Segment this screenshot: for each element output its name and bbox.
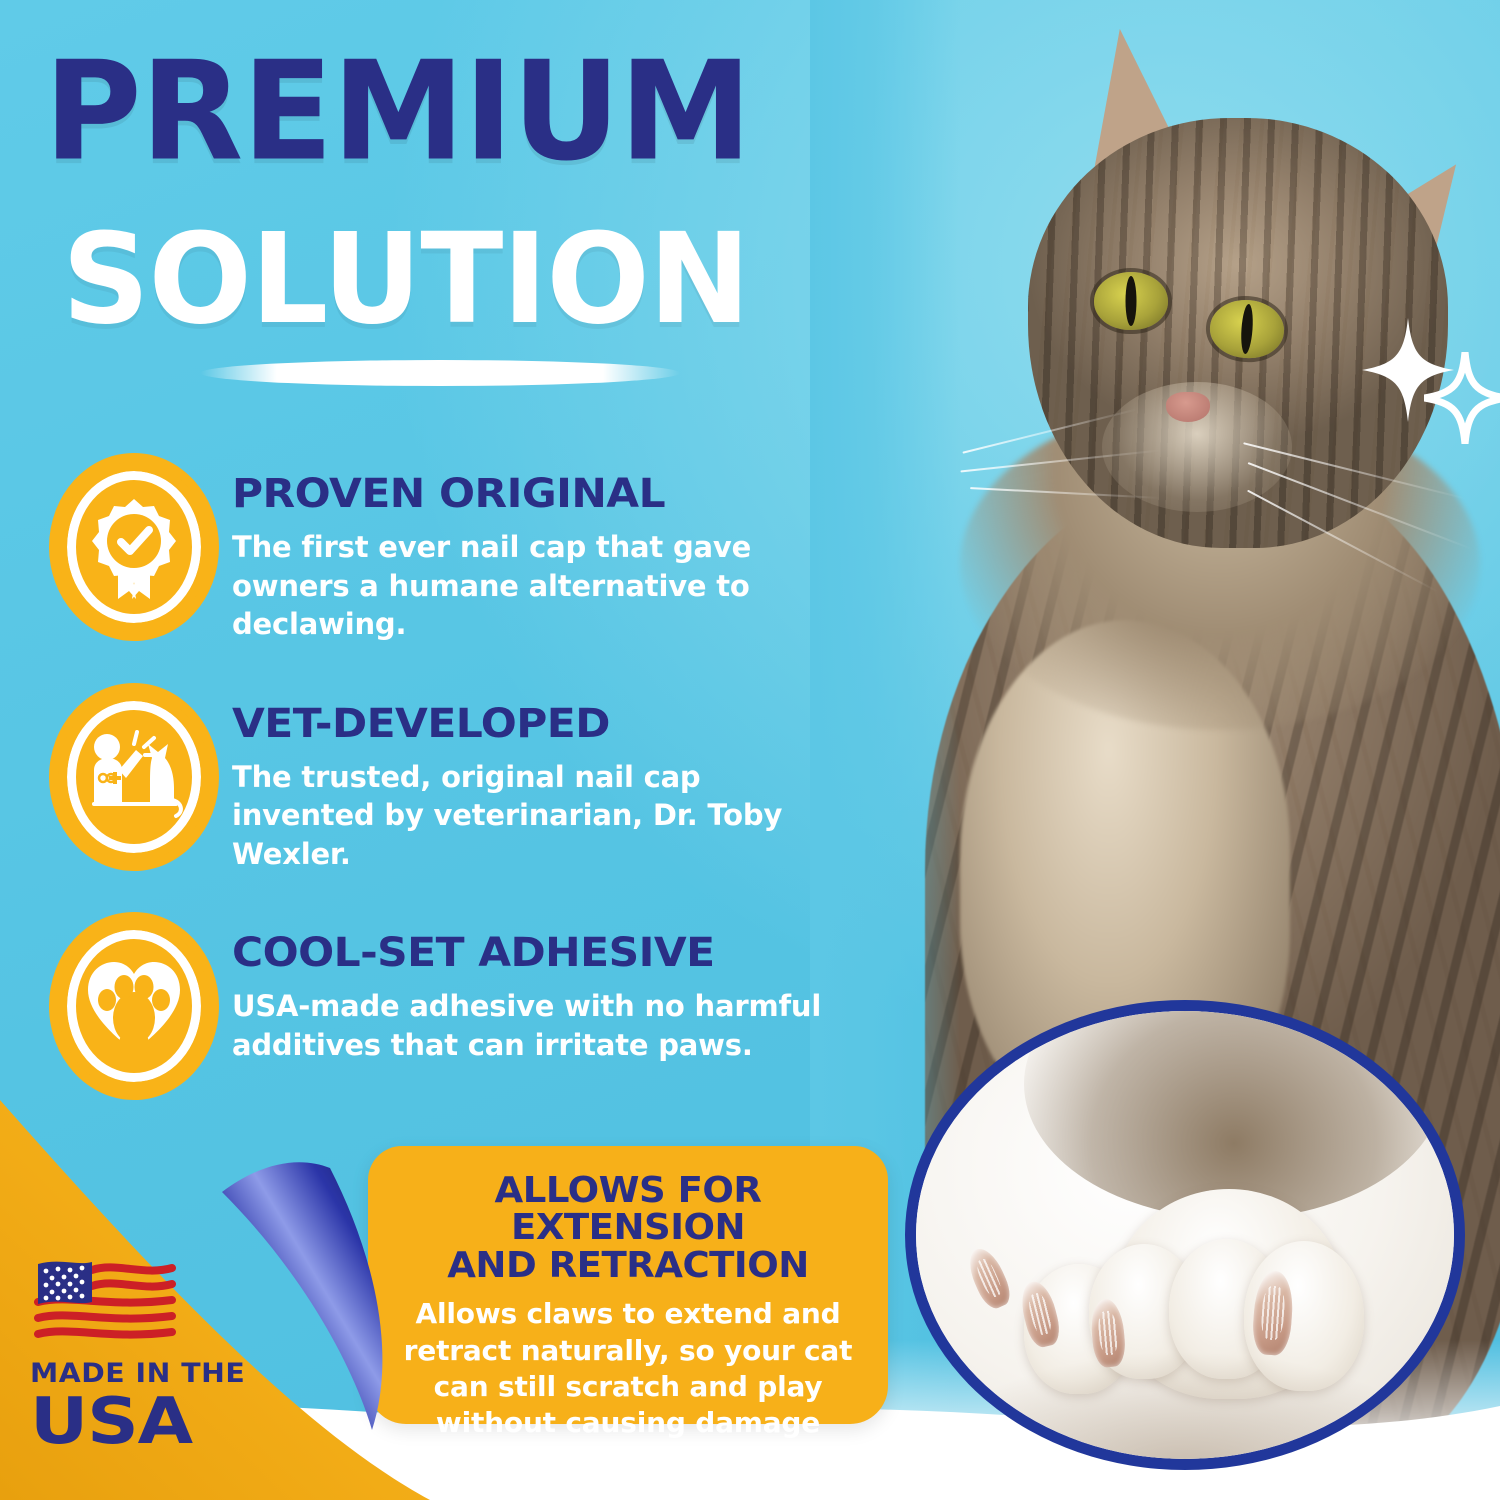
infographic-canvas: PREMIUM SOLUTION PROVEN ORIGINAL Th — [0, 0, 1500, 1500]
headline: PREMIUM SOLUTION — [44, 46, 864, 319]
feature-body: The trusted, original nail cap invented … — [232, 758, 832, 874]
usa-label: USA — [30, 1393, 271, 1452]
paw-photo — [914, 1009, 1456, 1461]
feature-text: VET-DEVELOPED The trusted, original nail… — [232, 692, 832, 874]
white-swoosh-divider — [200, 360, 680, 386]
extension-retraction-callout: ALLOWS FOR EXTENSION AND RETRACTION Allo… — [368, 1146, 888, 1424]
feature-badge — [58, 921, 210, 1091]
feature-list: PROVEN ORIGINAL The first ever nail cap … — [58, 462, 858, 1139]
callout-title-line1: ALLOWS FOR EXTENSION — [495, 1170, 762, 1248]
feature-text: PROVEN ORIGINAL The first ever nail cap … — [232, 462, 832, 644]
paw-bottom-shadow — [914, 1351, 1456, 1470]
feature-title: COOL-SET ADHESIVE — [232, 933, 868, 973]
feature-body: The first ever nail cap that gave owners… — [232, 528, 832, 644]
callout-title-line2: AND RETRACTION — [447, 1245, 808, 1286]
cat-nose — [1166, 392, 1210, 422]
feature-badge — [58, 462, 210, 632]
feature-title: VET-DEVELOPED — [232, 704, 868, 744]
cat-paw-with-nail-caps-closeup — [905, 1000, 1465, 1470]
award-ribbon-check-icon — [58, 462, 210, 632]
made-in-the-label: MADE IN THE — [30, 1360, 256, 1387]
feature-title: PROVEN ORIGINAL — [232, 474, 868, 514]
callout-body: Allows claws to extend and retract natur… — [390, 1296, 866, 1442]
headline-line-solution: SOLUTION — [62, 220, 1000, 339]
feature-badge — [58, 692, 210, 862]
feature-text: COOL-SET ADHESIVE USA-made adhesive with… — [232, 921, 832, 1064]
feature-body: USA-made adhesive with no harmful additi… — [232, 987, 832, 1064]
feature-item-vet-developed: VET-DEVELOPED The trusted, original nail… — [58, 692, 858, 874]
callout-title: ALLOWS FOR EXTENSION AND RETRACTION — [383, 1172, 873, 1284]
feature-item-proven-original: PROVEN ORIGINAL The first ever nail cap … — [58, 462, 858, 644]
veterinarian-high-five-cat-icon — [58, 692, 210, 862]
sparkle-outline-icon — [1424, 352, 1500, 444]
cat-eye-left — [1094, 272, 1168, 330]
usa-flag-icon — [30, 1256, 182, 1348]
headline-line-premium: PREMIUM — [44, 46, 971, 176]
heart-paw-icon — [58, 921, 210, 1091]
made-in-usa-badge: MADE IN THE USA — [30, 1256, 245, 1452]
feature-item-cool-set-adhesive: COOL-SET ADHESIVE USA-made adhesive with… — [58, 921, 858, 1091]
